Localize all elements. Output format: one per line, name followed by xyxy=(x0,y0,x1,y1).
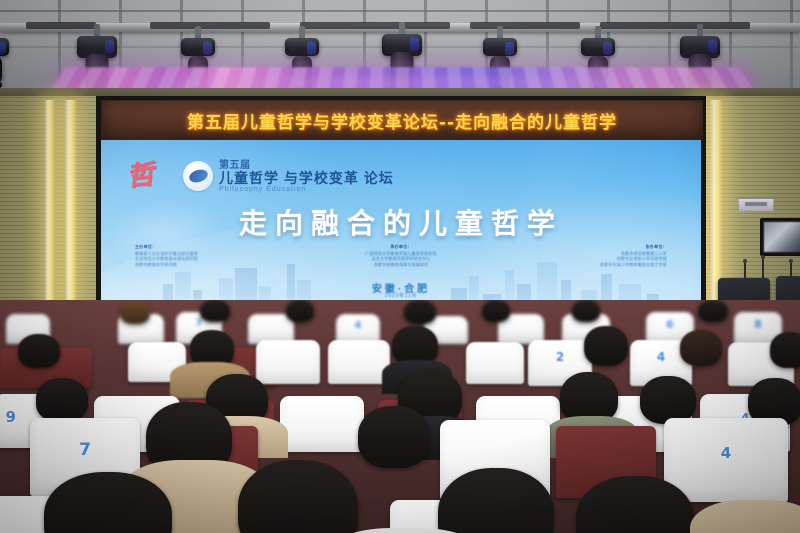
attendee-head xyxy=(120,300,150,324)
event-logo: 哲 第五届 儿童哲学 与学校变革 论坛 Philosophy Education xyxy=(129,154,429,198)
seat-number: 4 xyxy=(355,320,362,331)
chair xyxy=(280,396,364,452)
microphone xyxy=(762,258,764,278)
chair xyxy=(256,340,320,384)
banner-title-text: 第五届儿童哲学与学校变革论坛--走向融合的儿童哲学 xyxy=(187,108,617,133)
seat-number: 4 xyxy=(657,350,665,364)
projection-screen: 哲 第五届 儿童哲学 与学校变革 论坛 Philosophy Education… xyxy=(101,140,701,324)
wall-sign-plaque xyxy=(738,198,774,211)
seat-number: 9 xyxy=(6,408,16,426)
attendee-head xyxy=(18,334,60,368)
credits-heading: 承办单位： xyxy=(321,244,481,250)
chair xyxy=(328,340,390,384)
seat-number: 7 xyxy=(196,318,203,329)
light-head xyxy=(0,38,9,56)
attendee-head xyxy=(680,330,722,366)
audience-area: 7 4 6 8 2 4 xyxy=(0,300,800,533)
credits-column-organizer: 承办单位： 广西师范大学教育学部儿童哲学研究所 北京大学教育学部学科研究中心 合… xyxy=(321,244,481,278)
attendee-head xyxy=(770,332,800,368)
light-head xyxy=(285,38,319,56)
chair xyxy=(466,342,524,384)
organizer-credits: 主办单位： 教育部人文社会科学重点研究基地 北京师范大学教育基本理论研究院 合肥… xyxy=(135,244,667,278)
credits-line: 合肥市屯溪小学教育集团名誉工作室 xyxy=(507,262,667,267)
stage-banner: 第五届儿童哲学与学校变革论坛--走向融合的儿童哲学 xyxy=(101,100,703,140)
seat-number: 7 xyxy=(79,440,91,460)
attendee-head xyxy=(698,300,728,322)
cable xyxy=(600,22,750,29)
seat-number: 6 xyxy=(666,318,674,331)
attendee-head xyxy=(358,406,430,468)
attendee-head xyxy=(200,300,230,322)
attendee-head xyxy=(286,300,314,322)
attendee-head xyxy=(404,300,436,324)
seat-number: 8 xyxy=(754,318,762,331)
monitor-screen xyxy=(764,222,800,252)
microphone xyxy=(744,262,746,278)
screen-date-text: 2023年11月 xyxy=(101,292,701,299)
seat-number: 4 xyxy=(721,444,731,462)
logo-line-name: 儿童哲学 与学校变革 论坛 xyxy=(219,171,429,186)
cable xyxy=(150,22,270,29)
credits-heading: 协办单位： xyxy=(507,244,667,250)
wave-emblem-icon xyxy=(183,161,213,191)
credits-line: 合肥学校教育改革与发展研究 xyxy=(321,262,481,267)
cable xyxy=(26,22,96,29)
logo-line-edition: 第五届 xyxy=(219,156,429,171)
cable xyxy=(470,22,580,29)
attendee-head xyxy=(36,378,88,422)
calligraphy-mark: 哲 xyxy=(127,156,177,195)
attendee-head xyxy=(584,326,628,366)
seat-number: 2 xyxy=(556,350,564,364)
conference-hall-photo: 第五届儿童哲学与学校变革论坛--走向融合的儿童哲学 xyxy=(0,0,800,533)
microphone xyxy=(790,262,792,278)
wall-monitor xyxy=(760,218,800,256)
light-head xyxy=(483,38,517,56)
attendee-head xyxy=(640,376,696,424)
chair: 4 xyxy=(664,418,788,502)
light-head xyxy=(181,38,215,56)
credits-line: 合肥市教育科学研究院 xyxy=(135,262,295,267)
credits-column-coorganizer: 协办单位： 合肥市师范附属第二小学 合肥市长淮新小学实验学校 合肥市屯溪小学教育… xyxy=(507,244,667,278)
logo-line-latin: Philosophy Education xyxy=(219,186,429,193)
cable xyxy=(300,22,450,29)
credits-column-host: 主办单位： 教育部人文社会科学重点研究基地 北京师范大学教育基本理论研究院 合肥… xyxy=(135,244,295,278)
logo-text-block: 第五届 儿童哲学 与学校变革 论坛 Philosophy Education xyxy=(219,156,429,198)
ceiling-seam xyxy=(0,10,800,12)
attendee-head xyxy=(482,300,510,322)
credits-heading: 主办单位： xyxy=(135,244,295,250)
screen-main-title: 走向融合的儿童哲学 xyxy=(101,202,701,242)
attendee-head xyxy=(572,300,600,322)
light-head xyxy=(581,38,615,56)
